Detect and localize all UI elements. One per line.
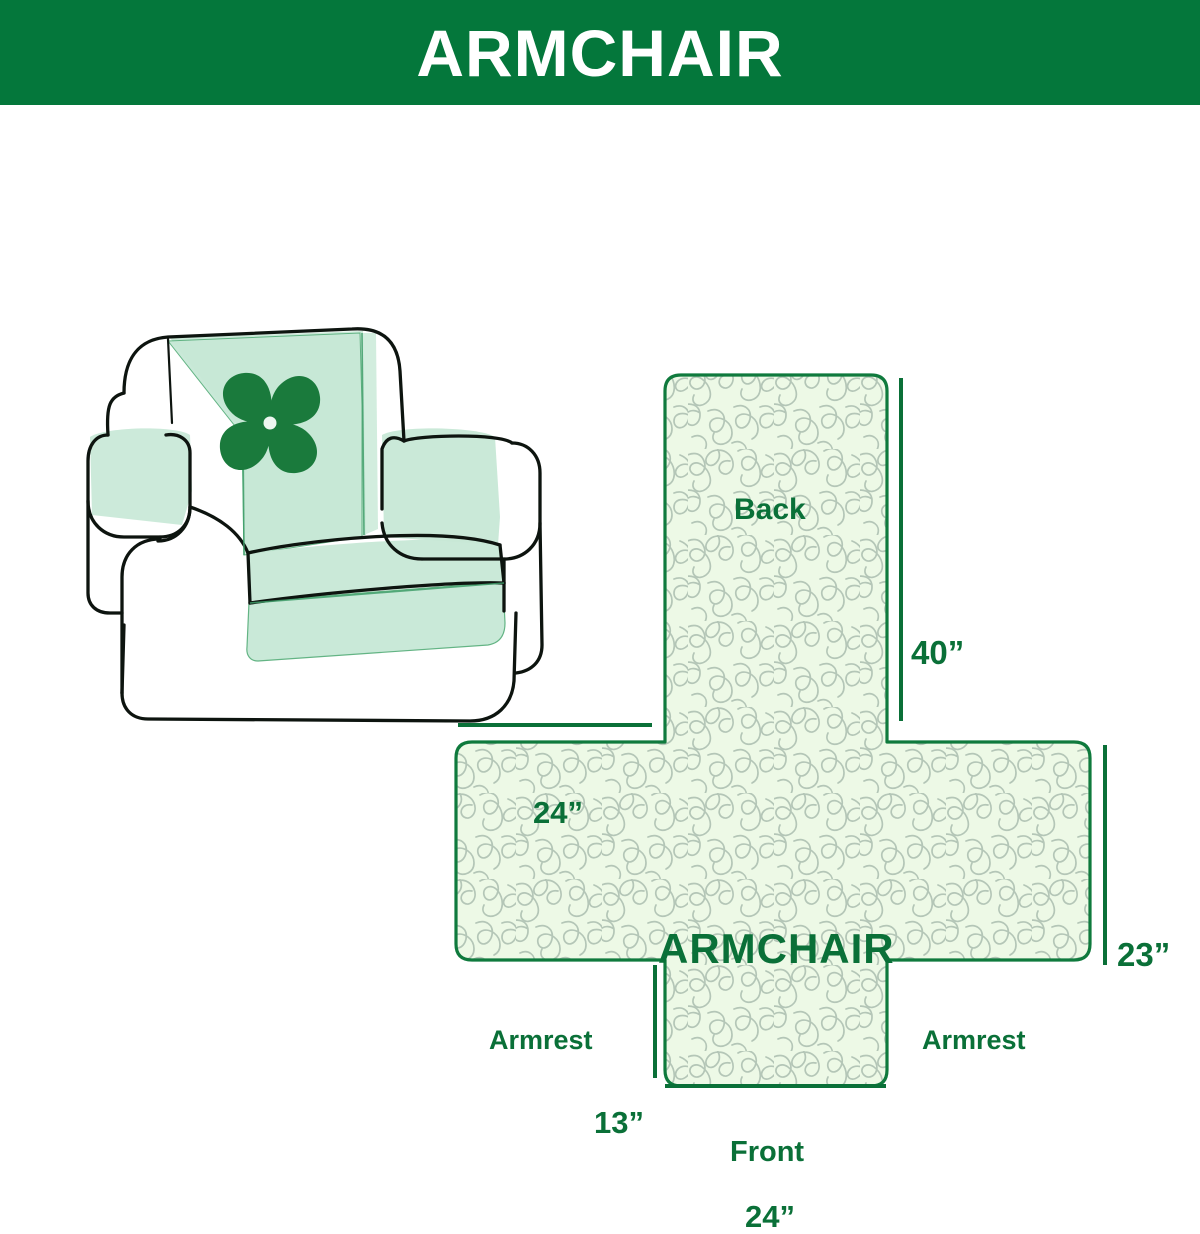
dimension-label-body-height: 23” (1117, 938, 1170, 971)
cover-outline (456, 375, 1090, 1086)
main-canvas: Back ARMCHAIR Armrest Armrest Front 40” … (0, 105, 1200, 1200)
panel-label-armrest-right: Armrest (922, 1027, 1026, 1054)
cover-pattern-diagram (456, 375, 1090, 1086)
page-title: ARMCHAIR (416, 20, 783, 86)
panel-label-center: ARMCHAIR (658, 928, 895, 970)
panel-label-back: Back (734, 495, 806, 525)
panel-label-armrest-left: Armrest (489, 1027, 593, 1054)
dimension-label-back-width: 24” (533, 797, 583, 828)
panel-label-front: Front (730, 1138, 804, 1167)
header-banner: ARMCHAIR (0, 0, 1200, 105)
armchair-drawing (88, 329, 542, 721)
dimension-label-front-width: 24” (745, 1201, 795, 1232)
dimension-label-back-height: 40” (911, 636, 964, 669)
dimension-label-front-height: 13” (594, 1107, 644, 1138)
